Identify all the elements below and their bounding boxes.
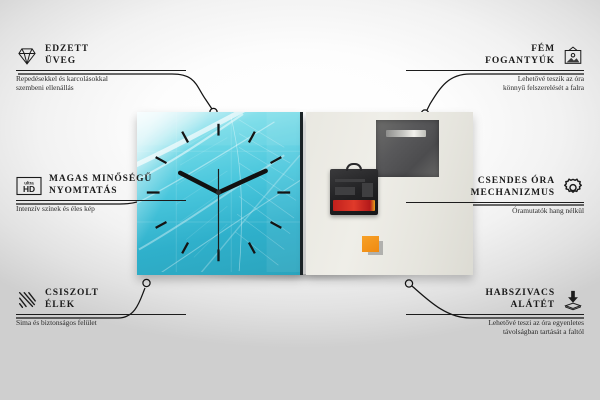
clock-mechanism-part xyxy=(330,169,378,215)
feature-silent-mechanism: CSENDES ÓRA MECHANIZMUS Óramutatók hang … xyxy=(398,176,584,215)
mechanism-detail xyxy=(362,183,373,197)
feature-title-line2: NYOMTATÁS xyxy=(49,186,152,198)
feature-rule xyxy=(406,314,584,315)
feature-title-line2: FOGANTYÚK xyxy=(485,56,555,68)
feature-title-line2: MECHANIZMUS xyxy=(471,188,555,200)
clock-hand-minute xyxy=(218,171,265,193)
foam-pad-icon xyxy=(562,289,584,311)
feature-description: Lehetővé teszik az óra könnyű felszerelé… xyxy=(398,74,584,93)
feature-description: Lehetővé teszi az óra egyenletes távolsá… xyxy=(398,318,584,337)
mechanism-battery xyxy=(333,200,375,211)
feature-metal-handles: FÉM FOGANTYÚK Lehetővé teszik az óra kön… xyxy=(398,44,584,92)
feature-title-line1: CSENDES ÓRA xyxy=(471,176,555,188)
product-shadow xyxy=(133,274,477,285)
feature-high-quality-print: ultra HD MAGAS MINŐSÉGŰ NYOMTATÁS Intenz… xyxy=(16,174,194,213)
wall-hanger-icon xyxy=(562,45,584,67)
feature-title-line2: ALÁTÉT xyxy=(485,300,555,312)
feature-rule xyxy=(406,202,584,203)
feature-title-line2: ÉLEK xyxy=(45,300,99,312)
ultra-hd-icon: ultra HD xyxy=(16,175,42,197)
feature-title-line1: FÉM xyxy=(485,44,555,56)
feature-title-line1: EDZETT xyxy=(45,44,89,56)
diamond-icon xyxy=(16,45,38,67)
feature-description: Sima és biztonságos felület xyxy=(16,318,194,327)
feature-rule xyxy=(406,70,584,71)
feature-description: Repedésekkel és karcolásokkal szembeni e… xyxy=(16,74,194,93)
feature-polished-edges: CSISZOLT ÉLEK Sima és biztonságos felüle… xyxy=(16,288,194,327)
feature-title-line2: ÜVEG xyxy=(45,56,89,68)
feature-tempered-glass: EDZETT ÜVEG Repedésekkel és karcolásokka… xyxy=(16,44,194,92)
feature-rule xyxy=(16,70,186,71)
feature-rule xyxy=(16,314,186,315)
feature-description: Intenzív színek és éles kép xyxy=(16,204,194,213)
feature-foam-pad: HABSZIVACS ALÁTÉT Lehetővé teszi az óra … xyxy=(398,288,584,336)
mechanism-hanging-loop xyxy=(346,163,362,171)
feature-title-line1: CSISZOLT xyxy=(45,288,99,300)
mechanism-detail xyxy=(335,187,355,195)
mechanism-detail xyxy=(335,179,365,182)
foam-pad-part xyxy=(362,236,379,252)
metal-hanger-part xyxy=(376,120,439,177)
infographic-stage: EDZETT ÜVEG Repedésekkel és karcolásokka… xyxy=(0,0,600,400)
feature-rule xyxy=(16,200,186,201)
feature-title-line1: HABSZIVACS xyxy=(485,288,555,300)
feature-title-line1: MAGAS MINŐSÉGŰ xyxy=(49,174,152,186)
feature-description: Óramutatók hang nélkül xyxy=(398,206,584,215)
clock-center-cap xyxy=(216,190,221,195)
gear-icon xyxy=(562,177,584,199)
polished-edges-icon xyxy=(16,289,38,311)
hanger-slot xyxy=(386,130,426,137)
svg-text:HD: HD xyxy=(23,184,35,194)
